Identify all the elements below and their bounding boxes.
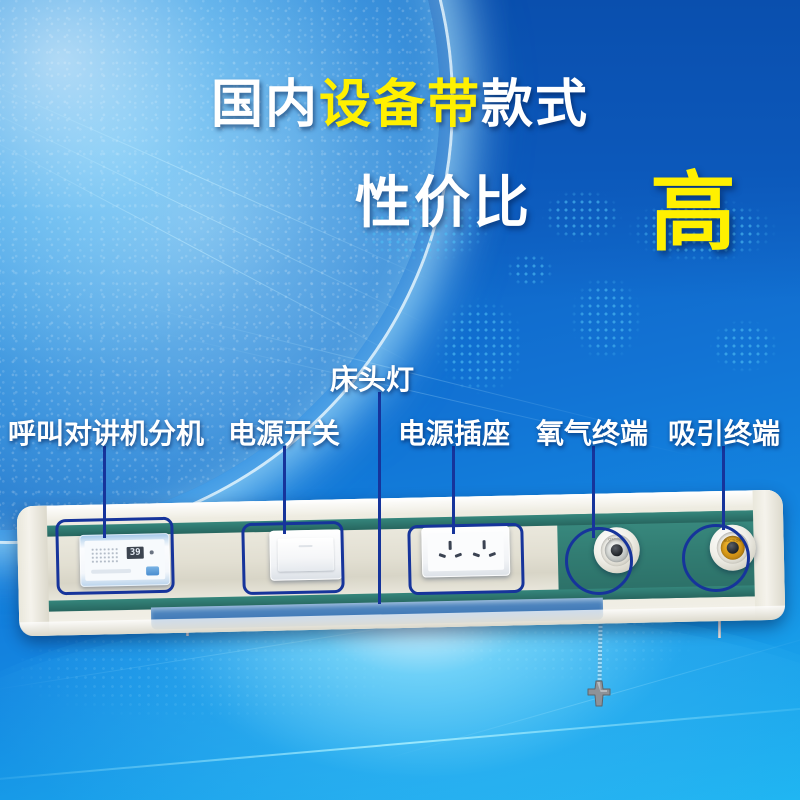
callout-label-suction-outlet: 吸引终端 [668,412,780,452]
callout-label-bed-lamp: 床头灯 [330,358,414,398]
highlight-circle-oxygen [565,527,633,595]
headline-emphasis: 高 [650,142,736,267]
callout-label-intercom: 呼叫对讲机分机 [8,412,204,452]
promo-image-stage: 国内设备带款式 性价比 高 呼叫对讲机分机 电源开关 床头灯 电源插座 氧气终端… [0,0,800,800]
leader-line-intercom [103,446,106,538]
headline-line-2: 性价比 [355,158,532,239]
leader-line-bed-lamp [378,392,381,604]
leader-line-power-socket [452,446,455,534]
callout-label-power-socket: 电源插座 [398,412,510,452]
highlight-box-power-socket [407,523,524,596]
panel-end-cap-left [17,506,50,637]
leader-line-power-switch [283,446,286,534]
headline-line-1: 国内设备带款式 [0,78,800,133]
headline-part-1: 国内 [211,75,319,135]
leader-line-suction-outlet [722,446,725,530]
panel-end-cap-right [752,490,785,621]
callout-label-power-switch: 电源开关 [228,412,340,452]
highlight-box-power-switch [241,521,345,595]
headline-part-2: 款式 [481,75,589,135]
headline-highlight: 设备带 [319,75,481,135]
callout-label-oxygen-outlet: 氧气终端 [536,412,648,452]
hose-connector-icon [585,680,613,708]
highlight-box-intercom [55,517,175,596]
highlight-circle-suction [682,524,750,592]
headline-block: 国内设备带款式 [0,78,800,133]
leader-line-oxygen-outlet [592,446,595,538]
